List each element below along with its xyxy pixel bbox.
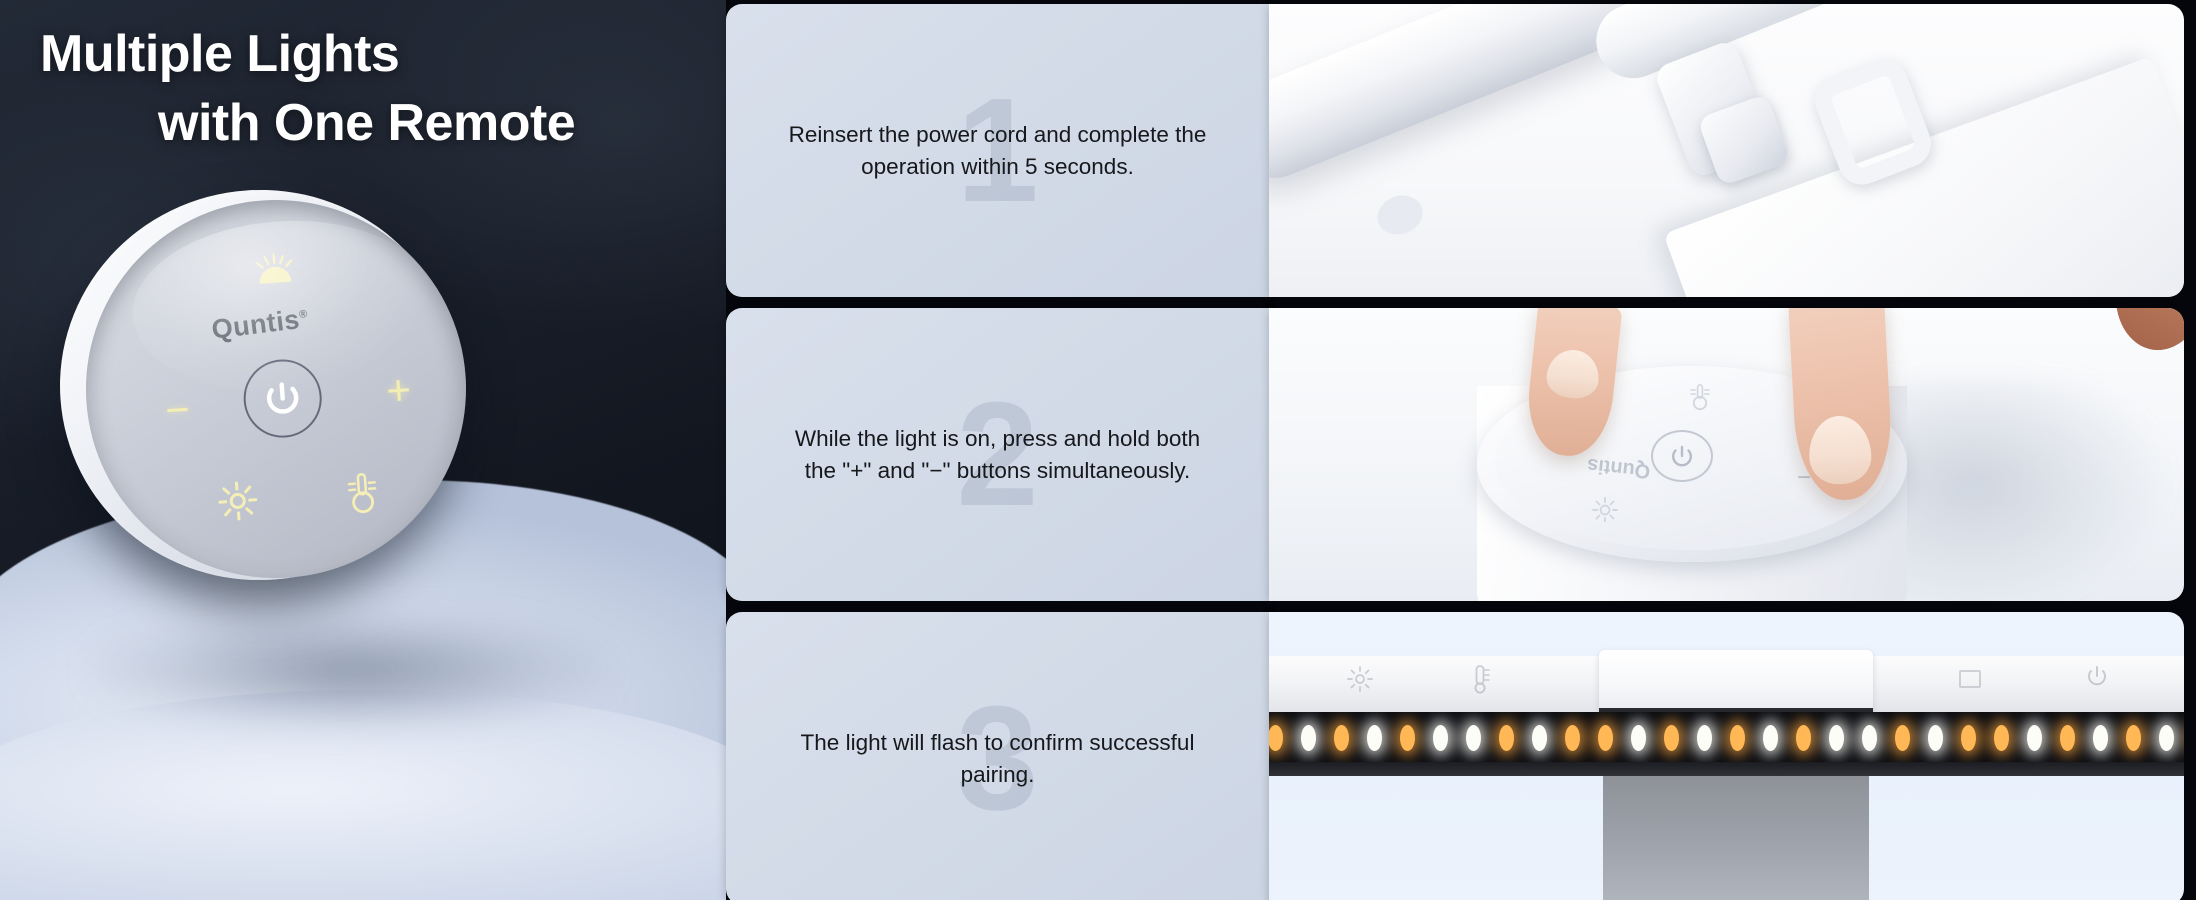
brand-trademark: ® bbox=[298, 308, 308, 321]
remote-power-button[interactable] bbox=[241, 357, 324, 440]
led-dot bbox=[1928, 725, 1943, 751]
bulb-color-temp-icon bbox=[1687, 382, 1713, 412]
sun-brightness-icon bbox=[1347, 666, 1373, 692]
hero-panel: Multiple Lights with One Remote bbox=[0, 0, 726, 900]
led-dot bbox=[1565, 725, 1580, 751]
led-dot bbox=[1994, 725, 2009, 751]
remote-minus-button[interactable]: − bbox=[164, 388, 191, 432]
thumb-corner bbox=[2108, 308, 2184, 356]
step-row-2: 2 While the light is on, press and hold … bbox=[726, 308, 2184, 601]
light-bar-endcap bbox=[1372, 189, 1428, 240]
step-card-3: 3 The light will flash to confirm succes… bbox=[726, 612, 1269, 900]
light-bar-bottom-lip bbox=[1269, 762, 2184, 776]
led-dot bbox=[1466, 725, 1481, 751]
led-strip bbox=[1269, 712, 2184, 764]
page-title: Multiple Lights with One Remote bbox=[0, 24, 700, 155]
step-row-1: 1 Reinsert the power cord and complete t… bbox=[726, 4, 2184, 297]
led-dot bbox=[1269, 725, 1283, 751]
mode-square-icon bbox=[1959, 670, 1981, 688]
step-photo-1 bbox=[1269, 4, 2184, 297]
product-infographic: Multiple Lights with One Remote bbox=[0, 0, 2196, 900]
led-dot bbox=[1598, 725, 1613, 751]
step-card-1: 1 Reinsert the power cord and complete t… bbox=[726, 4, 1269, 297]
led-dot bbox=[1499, 725, 1514, 751]
led-dot bbox=[1730, 725, 1745, 751]
brand-name: Quntis bbox=[210, 304, 301, 345]
led-dot bbox=[1334, 725, 1349, 751]
step-row-3: 3 The light will flash to confirm succes… bbox=[726, 612, 2184, 900]
power-icon bbox=[2085, 664, 2109, 690]
led-dot bbox=[2027, 725, 2042, 751]
step-text-3: The light will flash to confirm successf… bbox=[778, 727, 1218, 789]
remote-cast-shadow bbox=[1869, 378, 2169, 601]
power-icon bbox=[1669, 443, 1695, 469]
led-dot bbox=[2060, 725, 2075, 751]
remote-power-button[interactable] bbox=[1651, 430, 1713, 482]
step-text-1: Reinsert the power cord and complete the… bbox=[778, 119, 1218, 181]
led-dot bbox=[1829, 725, 1844, 751]
led-dot bbox=[1664, 725, 1679, 751]
led-dot bbox=[1631, 725, 1646, 751]
led-dot bbox=[1301, 725, 1316, 751]
led-dot bbox=[1895, 725, 1910, 751]
led-dot bbox=[1763, 725, 1778, 751]
sunrise-icon bbox=[250, 250, 298, 287]
led-dot bbox=[2126, 725, 2141, 751]
power-icon bbox=[261, 377, 304, 420]
step-card-2: 2 While the light is on, press and hold … bbox=[726, 308, 1269, 601]
led-dot bbox=[1862, 725, 1877, 751]
light-bar-center-housing bbox=[1599, 650, 1873, 712]
led-dot bbox=[1400, 725, 1415, 751]
step-text-2: While the light is on, press and hold bo… bbox=[778, 423, 1218, 485]
monitor-mount bbox=[1603, 772, 1869, 900]
step-photo-3 bbox=[1269, 612, 2184, 900]
led-dot bbox=[2093, 725, 2108, 751]
sun-brightness-icon bbox=[1591, 496, 1619, 522]
led-dot bbox=[2159, 725, 2174, 751]
led-dot bbox=[1961, 725, 1976, 751]
led-dot bbox=[1532, 725, 1547, 751]
sun-brightness-icon bbox=[216, 480, 259, 523]
title-line-1: Multiple Lights bbox=[0, 24, 700, 85]
bulb-color-temp-icon bbox=[342, 469, 383, 516]
led-dot bbox=[1433, 725, 1448, 751]
title-line-2: with One Remote bbox=[0, 93, 700, 154]
steps-container: 1 Reinsert the power cord and complete t… bbox=[726, 0, 2196, 900]
color-temperature-icon bbox=[1469, 664, 1491, 694]
remote-brand-logo: Quntis® bbox=[210, 303, 310, 346]
led-dot bbox=[1367, 725, 1382, 751]
led-dot bbox=[1796, 725, 1811, 751]
remote-control-product: Quntis® − + bbox=[60, 190, 470, 590]
remote-drop-shadow bbox=[90, 610, 610, 730]
step-photo-2: + − Quntis bbox=[1269, 308, 2184, 601]
remote-plus-button[interactable]: + bbox=[385, 369, 412, 413]
led-dot bbox=[1697, 725, 1712, 751]
